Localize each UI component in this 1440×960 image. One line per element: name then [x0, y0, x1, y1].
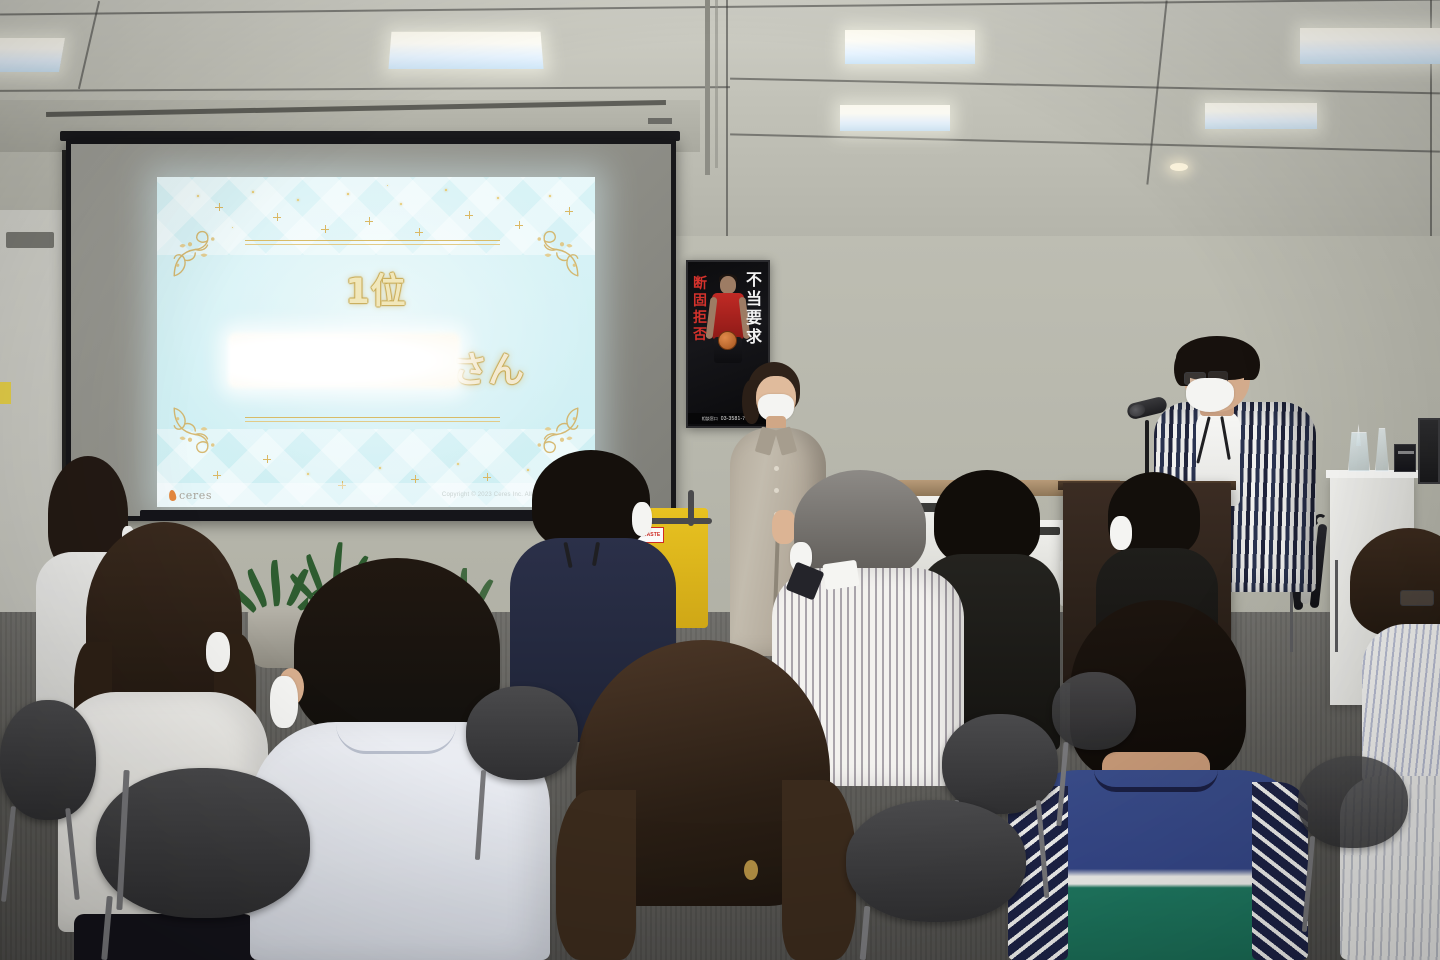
ceiling-light-panel: [845, 30, 975, 64]
folding-chair: [466, 686, 578, 780]
poster-subhead: 断固拒否: [691, 276, 709, 344]
flame-icon: [168, 489, 176, 501]
award-plaque: [1394, 444, 1416, 472]
face-mask: [1110, 516, 1132, 550]
ceiling-light-panel: [388, 32, 543, 69]
face-mask: [206, 632, 230, 672]
audience-member: [556, 640, 856, 960]
face-mask: [632, 502, 652, 536]
slide-recipient-row: さん: [157, 327, 595, 393]
audience-hair: [294, 558, 500, 740]
framed-picture: [1418, 418, 1440, 484]
basketball-icon: [718, 331, 737, 350]
folding-chair: [846, 800, 1026, 922]
ceiling-light-panel: [1300, 28, 1440, 64]
folding-chair: [0, 700, 96, 820]
poster-headline: 不当要求: [743, 270, 765, 346]
slide-rank-label: 1位: [157, 263, 595, 314]
folding-chair: [942, 714, 1058, 814]
slide-name-suffix: さん: [452, 341, 524, 393]
logo-wordmark: ceres: [179, 489, 212, 502]
ceiling-downlight: [1170, 163, 1188, 171]
wall-vent: [6, 232, 54, 248]
flourish-ornament-icon: [169, 403, 225, 459]
wall-notice-tag: [0, 382, 11, 404]
ceiling-light-panel: [0, 38, 65, 72]
ceres-logo: ceres: [169, 489, 212, 502]
face-mask: [270, 676, 298, 728]
folding-chair: [1052, 672, 1136, 750]
glass-trophy: [1348, 432, 1370, 472]
face-mask: [1186, 378, 1234, 412]
slide-divider-bottom: [245, 417, 500, 418]
folding-chair: [1298, 756, 1408, 848]
eyeglasses-icon: [1400, 590, 1434, 606]
redacted-name-block: [228, 333, 460, 388]
ceiling-light-panel: [840, 105, 950, 131]
poster-phone-label: 相談窓口: [702, 416, 718, 422]
audience-member: [1340, 528, 1440, 960]
presentation-room-photo: 1位 さん ceres Copyright © 2023 Ceres Inc. …: [0, 0, 1440, 960]
ceiling-light-panel: [1205, 103, 1317, 129]
slide-divider-top: [245, 240, 500, 241]
